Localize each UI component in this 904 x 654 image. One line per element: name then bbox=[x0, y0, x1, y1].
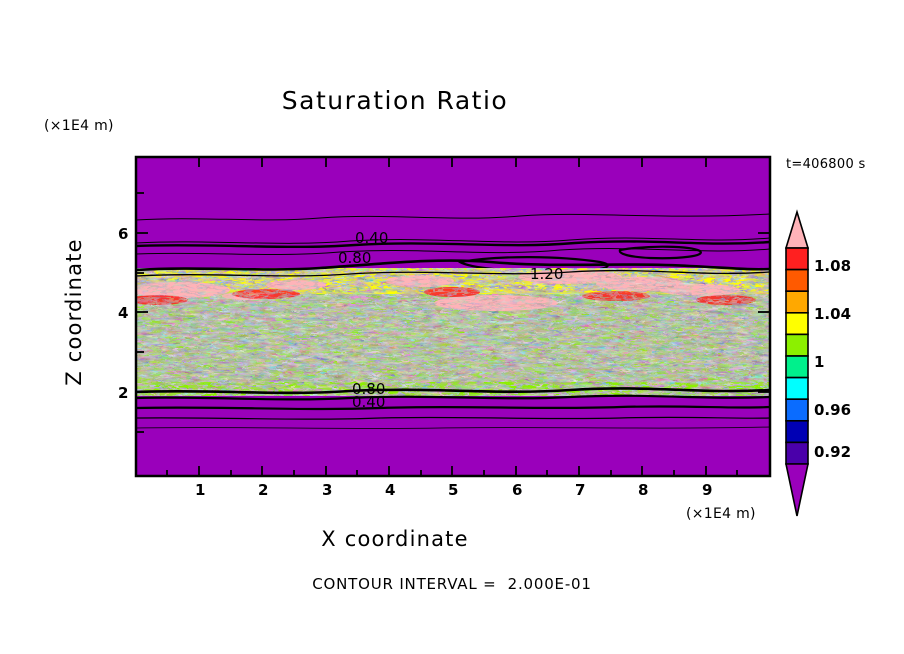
colorbar-over-arrow bbox=[786, 212, 808, 248]
contour-field bbox=[128, 157, 776, 476]
colorbar-under-arrow bbox=[786, 464, 808, 516]
contour-label: 0.40 bbox=[355, 229, 388, 247]
contour-label: 0.40 bbox=[352, 393, 385, 411]
colorbar-bands bbox=[786, 248, 808, 464]
colorbar bbox=[786, 212, 808, 516]
field-contour-lines bbox=[130, 270, 776, 394]
contour-label: 0.80 bbox=[338, 249, 371, 267]
plot-canvas: 0.40 0.80 1.20 0.80 0.40 bbox=[0, 0, 904, 654]
contour-label: 1.20 bbox=[530, 265, 563, 283]
contour-plot-figure: Saturation Ratio (×1E4 m) t=406800 s X c… bbox=[0, 0, 904, 654]
